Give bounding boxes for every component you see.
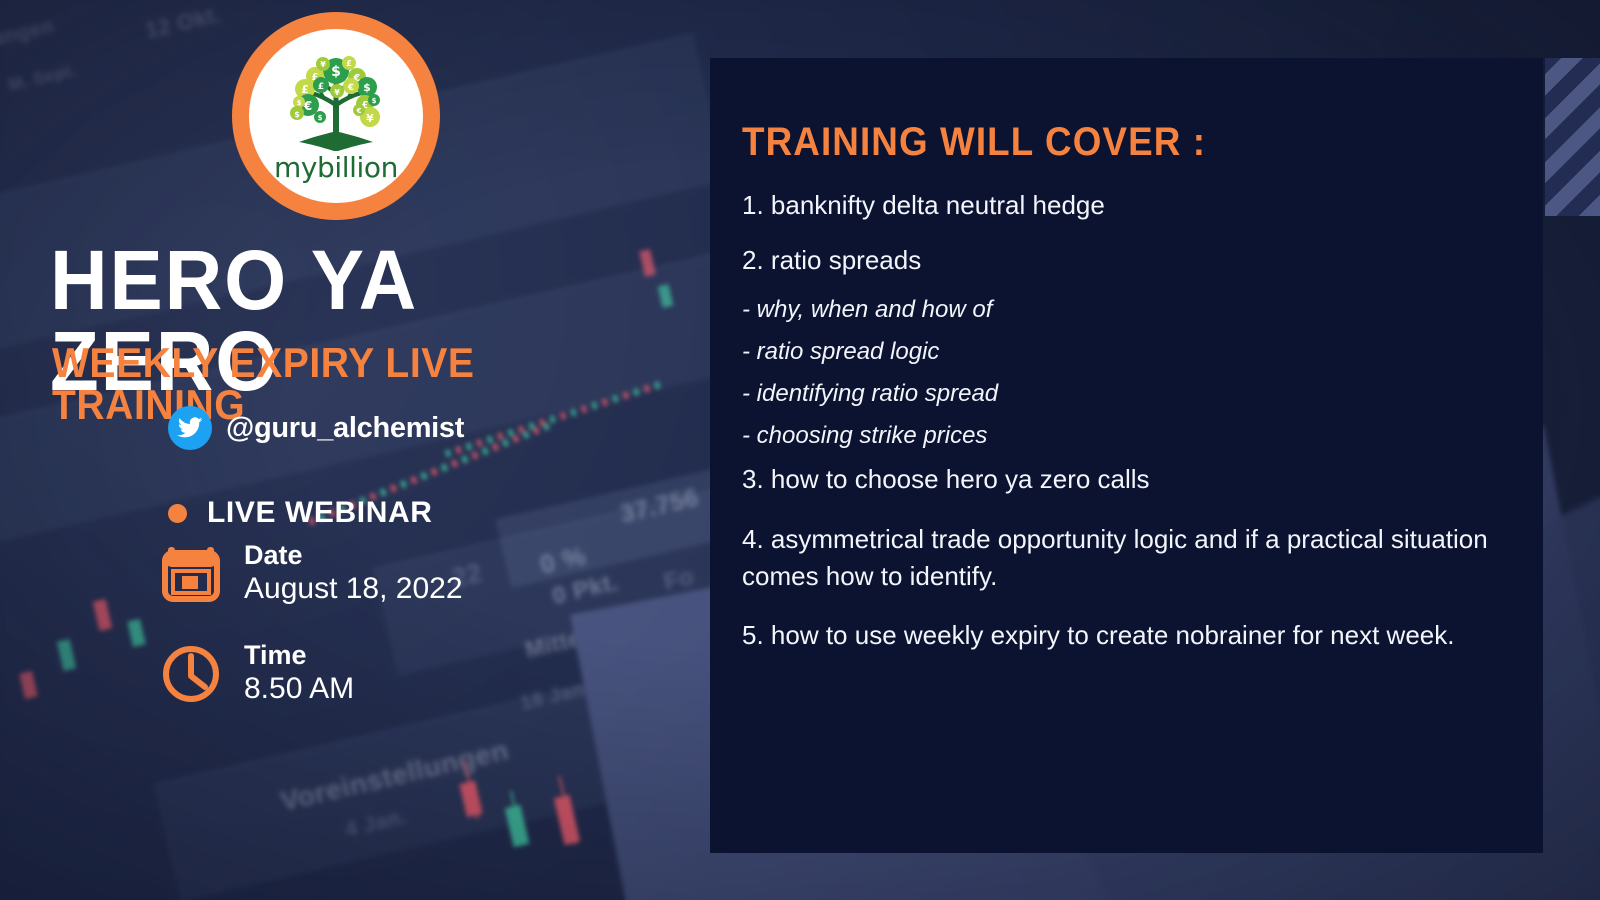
svg-text:$: $ <box>297 99 302 107</box>
brand-logo-badge: $ £ € £ $ ¥ £ £ € € £ $ $ $ ¥ $ ¥ € mybi… <box>232 12 440 220</box>
svg-text:$: $ <box>372 97 377 105</box>
calendar-icon <box>160 543 222 605</box>
svg-text:£: £ <box>346 59 352 68</box>
svg-text:¥: ¥ <box>334 88 340 97</box>
brand-logo-inner: $ £ € £ $ ¥ £ £ € € £ $ $ $ ¥ $ ¥ € mybi… <box>249 29 423 203</box>
event-date-label: Date <box>244 540 463 571</box>
clock-icon <box>160 643 222 705</box>
svg-text:¥: ¥ <box>366 112 374 125</box>
live-webinar-badge: LIVE WEBINAR <box>168 496 433 530</box>
event-date-value: August 18, 2022 <box>244 571 463 607</box>
status-badge: LIVE WEBINAR <box>207 496 433 530</box>
cover-topic-subitem: - choosing strike prices <box>742 424 1512 448</box>
event-date-row: Date August 18, 2022 <box>160 540 463 607</box>
svg-text:$: $ <box>318 114 323 122</box>
training-cover-panel: TRAINING WILL COVER : 1. banknifty delta… <box>710 58 1543 853</box>
svg-text:€: € <box>356 107 362 115</box>
svg-text:€: € <box>347 83 354 93</box>
cover-topic-item: 5. how to use weekly expiry to create no… <box>742 617 1512 654</box>
twitter-bird-glyph <box>177 417 203 439</box>
event-date-text: Date August 18, 2022 <box>244 540 463 607</box>
cover-topic-item: 2. ratio spreads <box>742 247 1512 273</box>
cover-topic-item: 3. how to choose hero ya zero calls <box>742 466 1512 492</box>
event-time-row: Time 8.50 AM <box>160 640 354 707</box>
cover-topic-subitem: - why, when and how of <box>742 298 1512 322</box>
cover-topic-item: 4. asymmetrical trade opportunity logic … <box>742 521 1512 595</box>
decorative-stripes-block <box>1545 58 1600 216</box>
cover-topic-subitem: - ratio spread logic <box>742 340 1512 364</box>
brand-wordmark: mybillion <box>274 151 398 184</box>
svg-text:$: $ <box>294 110 300 119</box>
cover-topic-subitem: - identifying ratio spread <box>742 382 1512 406</box>
status-dot-icon <box>168 504 187 523</box>
money-tree-icon: $ £ € £ $ ¥ £ £ € € £ $ $ $ ¥ $ ¥ € <box>277 55 395 155</box>
twitter-bird-icon[interactable] <box>168 406 212 450</box>
event-time-text: Time 8.50 AM <box>244 640 354 707</box>
social-handle-label: @guru_alchemist <box>226 412 464 445</box>
svg-text:$: $ <box>331 64 341 80</box>
cover-topic-list: 1. banknifty delta neutral hedge2. ratio… <box>742 192 1512 676</box>
event-time-value: 8.50 AM <box>244 671 354 707</box>
social-handle-row[interactable]: @guru_alchemist <box>168 406 464 450</box>
svg-text:£: £ <box>318 82 324 92</box>
svg-text:¥: ¥ <box>320 60 326 69</box>
cover-topic-item: 1. banknifty delta neutral hedge <box>742 192 1512 218</box>
svg-text:$: $ <box>363 81 371 94</box>
event-time-label: Time <box>244 640 354 671</box>
cover-panel-title: TRAINING WILL COVER : <box>742 120 1206 165</box>
